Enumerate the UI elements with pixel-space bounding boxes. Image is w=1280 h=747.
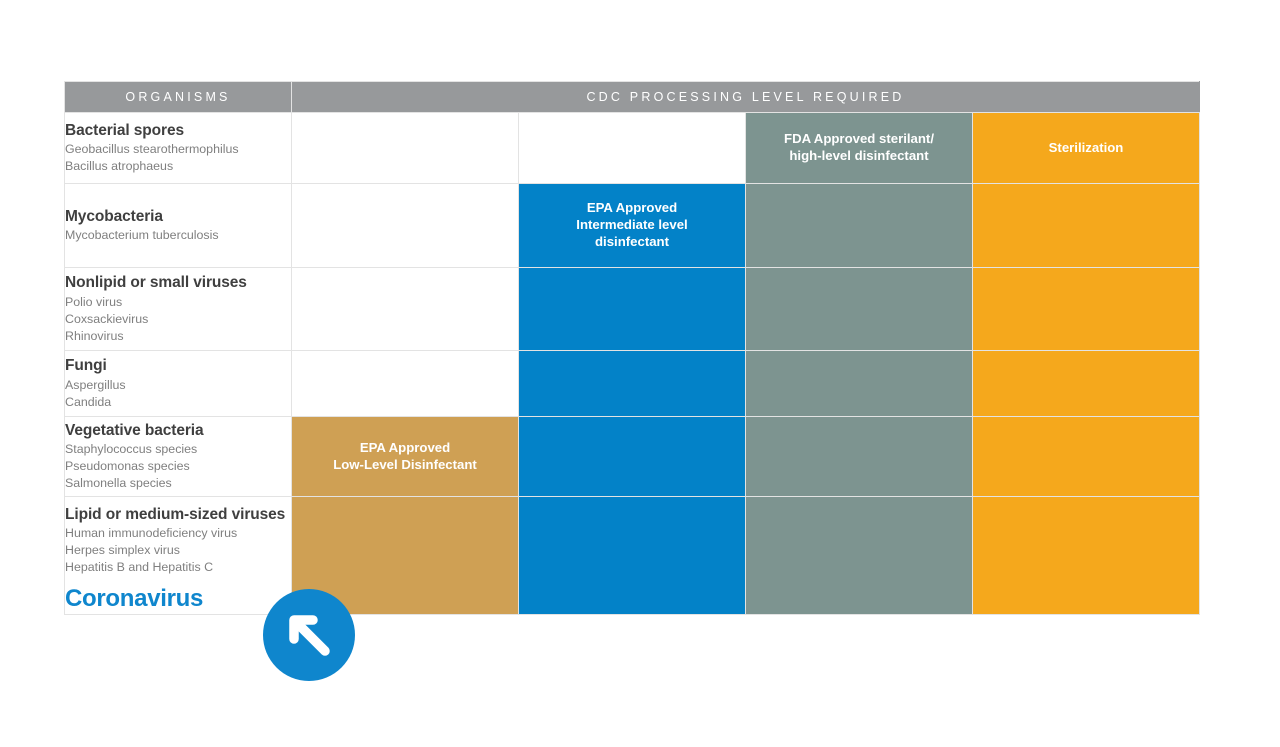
level-cell-intermediate: EPA Approved Intermediate level disinfec… [519, 184, 746, 268]
organism-species: Coxsackievirus [65, 311, 291, 328]
level-cell-high [746, 417, 973, 497]
arrow-up-left-icon [281, 607, 337, 663]
table-row: Nonlipid or small viruses Polio virus Co… [65, 268, 1200, 351]
organism-species: Salmonella species [65, 475, 291, 492]
intermediate-label-line1: EPA Approved [587, 200, 677, 215]
infographic-canvas: ORGANISMS CDC PROCESSING LEVEL REQUIRED … [0, 0, 1280, 747]
header-organisms: ORGANISMS [65, 82, 292, 113]
level-cell-high [746, 497, 973, 615]
level-cell-high [746, 351, 973, 417]
level-cell-high [746, 184, 973, 268]
organism-species: Human immunodeficiency virus [65, 525, 291, 542]
organism-species: Candida [65, 394, 291, 411]
organism-cell: Lipid or medium-sized viruses Human immu… [65, 497, 292, 615]
organism-species: Aspergillus [65, 377, 291, 394]
organism-title: Lipid or medium-sized viruses [65, 505, 291, 525]
organism-species: Staphylococcus species [65, 441, 291, 458]
organism-title: Nonlipid or small viruses [65, 273, 291, 293]
organism-cell: Mycobacteria Mycobacterium tuberculosis [65, 184, 292, 268]
organism-title: Vegetative bacteria [65, 421, 291, 441]
organism-cell: Nonlipid or small viruses Polio virus Co… [65, 268, 292, 351]
table-row: Bacterial spores Geobacillus stearotherm… [65, 113, 1200, 184]
organism-cell: Bacterial spores Geobacillus stearotherm… [65, 113, 292, 184]
level-cell-low [292, 351, 519, 417]
level-cell-intermediate [519, 113, 746, 184]
coronavirus-highlight: Coronavirus [65, 583, 291, 614]
high-level-label-line2: high-level disinfectant [789, 148, 928, 163]
level-cell-sterilization [973, 268, 1200, 351]
level-cell-low [292, 268, 519, 351]
organism-species: Herpes simplex virus [65, 542, 291, 559]
organism-species: Mycobacterium tuberculosis [65, 227, 291, 244]
organism-species: Hepatitis B and Hepatitis C [65, 559, 291, 576]
cdc-processing-level-matrix: ORGANISMS CDC PROCESSING LEVEL REQUIRED … [64, 81, 1200, 615]
organism-title: Mycobacteria [65, 207, 291, 227]
level-cell-low [292, 184, 519, 268]
matrix-body: Bacterial spores Geobacillus stearotherm… [65, 113, 1200, 615]
level-cell-sterilization [973, 417, 1200, 497]
level-cell-low [292, 113, 519, 184]
organism-title: Bacterial spores [65, 121, 291, 141]
level-cell-sterilization [973, 351, 1200, 417]
level-cell-sterilization [973, 497, 1200, 615]
header-row: ORGANISMS CDC PROCESSING LEVEL REQUIRED [65, 82, 1200, 113]
low-level-label-line2: Low-Level Disinfectant [333, 457, 477, 472]
organism-species: Pseudomonas species [65, 458, 291, 475]
organism-species: Bacillus atrophaeus [65, 158, 291, 175]
table-row: Vegetative bacteria Staphylococcus speci… [65, 417, 1200, 497]
level-cell-intermediate [519, 417, 746, 497]
organism-cell: Vegetative bacteria Staphylococcus speci… [65, 417, 292, 497]
header-processing-levels: CDC PROCESSING LEVEL REQUIRED [292, 82, 1200, 113]
level-cell-intermediate [519, 268, 746, 351]
high-level-label-line1: FDA Approved sterilant/ [784, 131, 934, 146]
low-level-label-line1: EPA Approved [360, 440, 450, 455]
table-row: Mycobacteria Mycobacterium tuberculosis … [65, 184, 1200, 268]
level-cell-high: FDA Approved sterilant/ high-level disin… [746, 113, 973, 184]
organism-species: Geobacillus stearothermophilus [65, 141, 291, 158]
level-cell-sterilization: Sterilization [973, 113, 1200, 184]
coronavirus-pointer-badge [263, 589, 355, 681]
table-row: Lipid or medium-sized viruses Human immu… [65, 497, 1200, 615]
matrix-header: ORGANISMS CDC PROCESSING LEVEL REQUIRED [65, 82, 1200, 113]
organism-title: Fungi [65, 356, 291, 376]
organism-cell: Fungi Aspergillus Candida [65, 351, 292, 417]
organism-species: Rhinovirus [65, 328, 291, 345]
level-cell-intermediate [519, 351, 746, 417]
organism-species: Polio virus [65, 294, 291, 311]
level-cell-intermediate [519, 497, 746, 615]
table-row: Fungi Aspergillus Candida [65, 351, 1200, 417]
level-cell-high [746, 268, 973, 351]
intermediate-label-line2: Intermediate level [576, 217, 687, 232]
level-cell-low: EPA Approved Low-Level Disinfectant [292, 417, 519, 497]
intermediate-label-line3: disinfectant [595, 234, 669, 249]
level-cell-sterilization [973, 184, 1200, 268]
